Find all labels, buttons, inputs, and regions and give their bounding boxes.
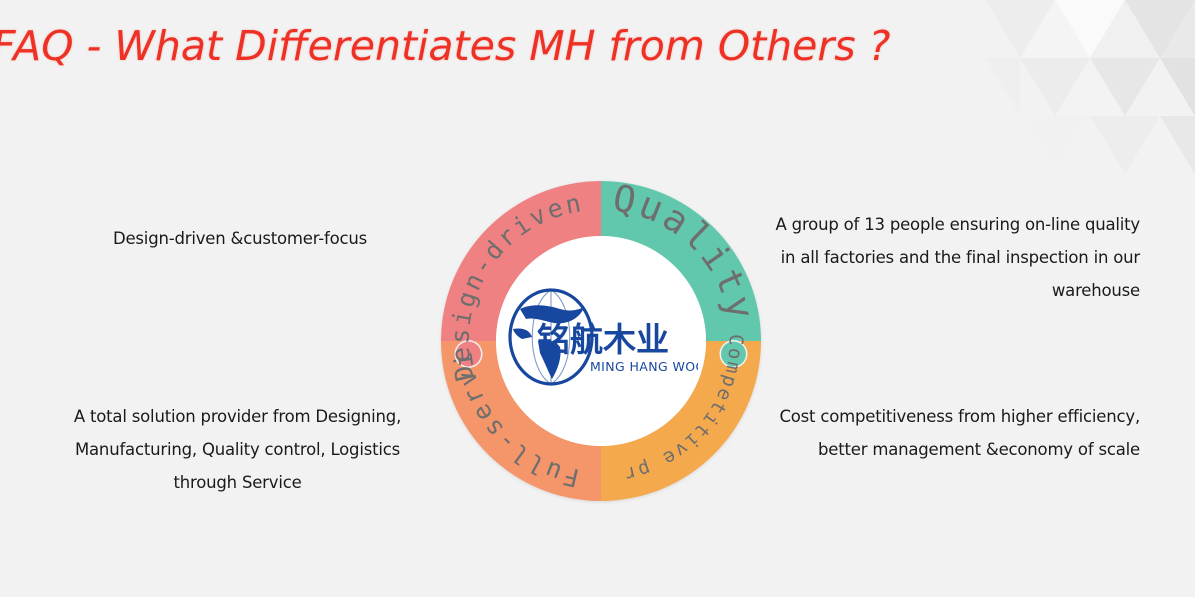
low-poly-decoration-icon: [985, 0, 1195, 175]
callout-quality: A group of 13 people ensuring on-line qu…: [770, 208, 1140, 307]
slide-canvas: FAQ - What Differentiates MH from Others…: [0, 0, 1195, 597]
callout-design-driven: Design-driven &customer-focus: [60, 222, 420, 255]
callout-full-service: A total solution provider from Designing…: [60, 400, 415, 499]
page-title: FAQ - What Differentiates MH from Others…: [0, 22, 940, 90]
callout-competitive-price: Cost competitiveness from higher efficie…: [770, 400, 1140, 466]
wheel-center-disc: [496, 236, 706, 446]
puzzle-wheel-diagram: Design-driven Quality Competitive price …: [433, 173, 769, 509]
page-title-text: FAQ - What Differentiates MH from Others…: [0, 22, 890, 70]
